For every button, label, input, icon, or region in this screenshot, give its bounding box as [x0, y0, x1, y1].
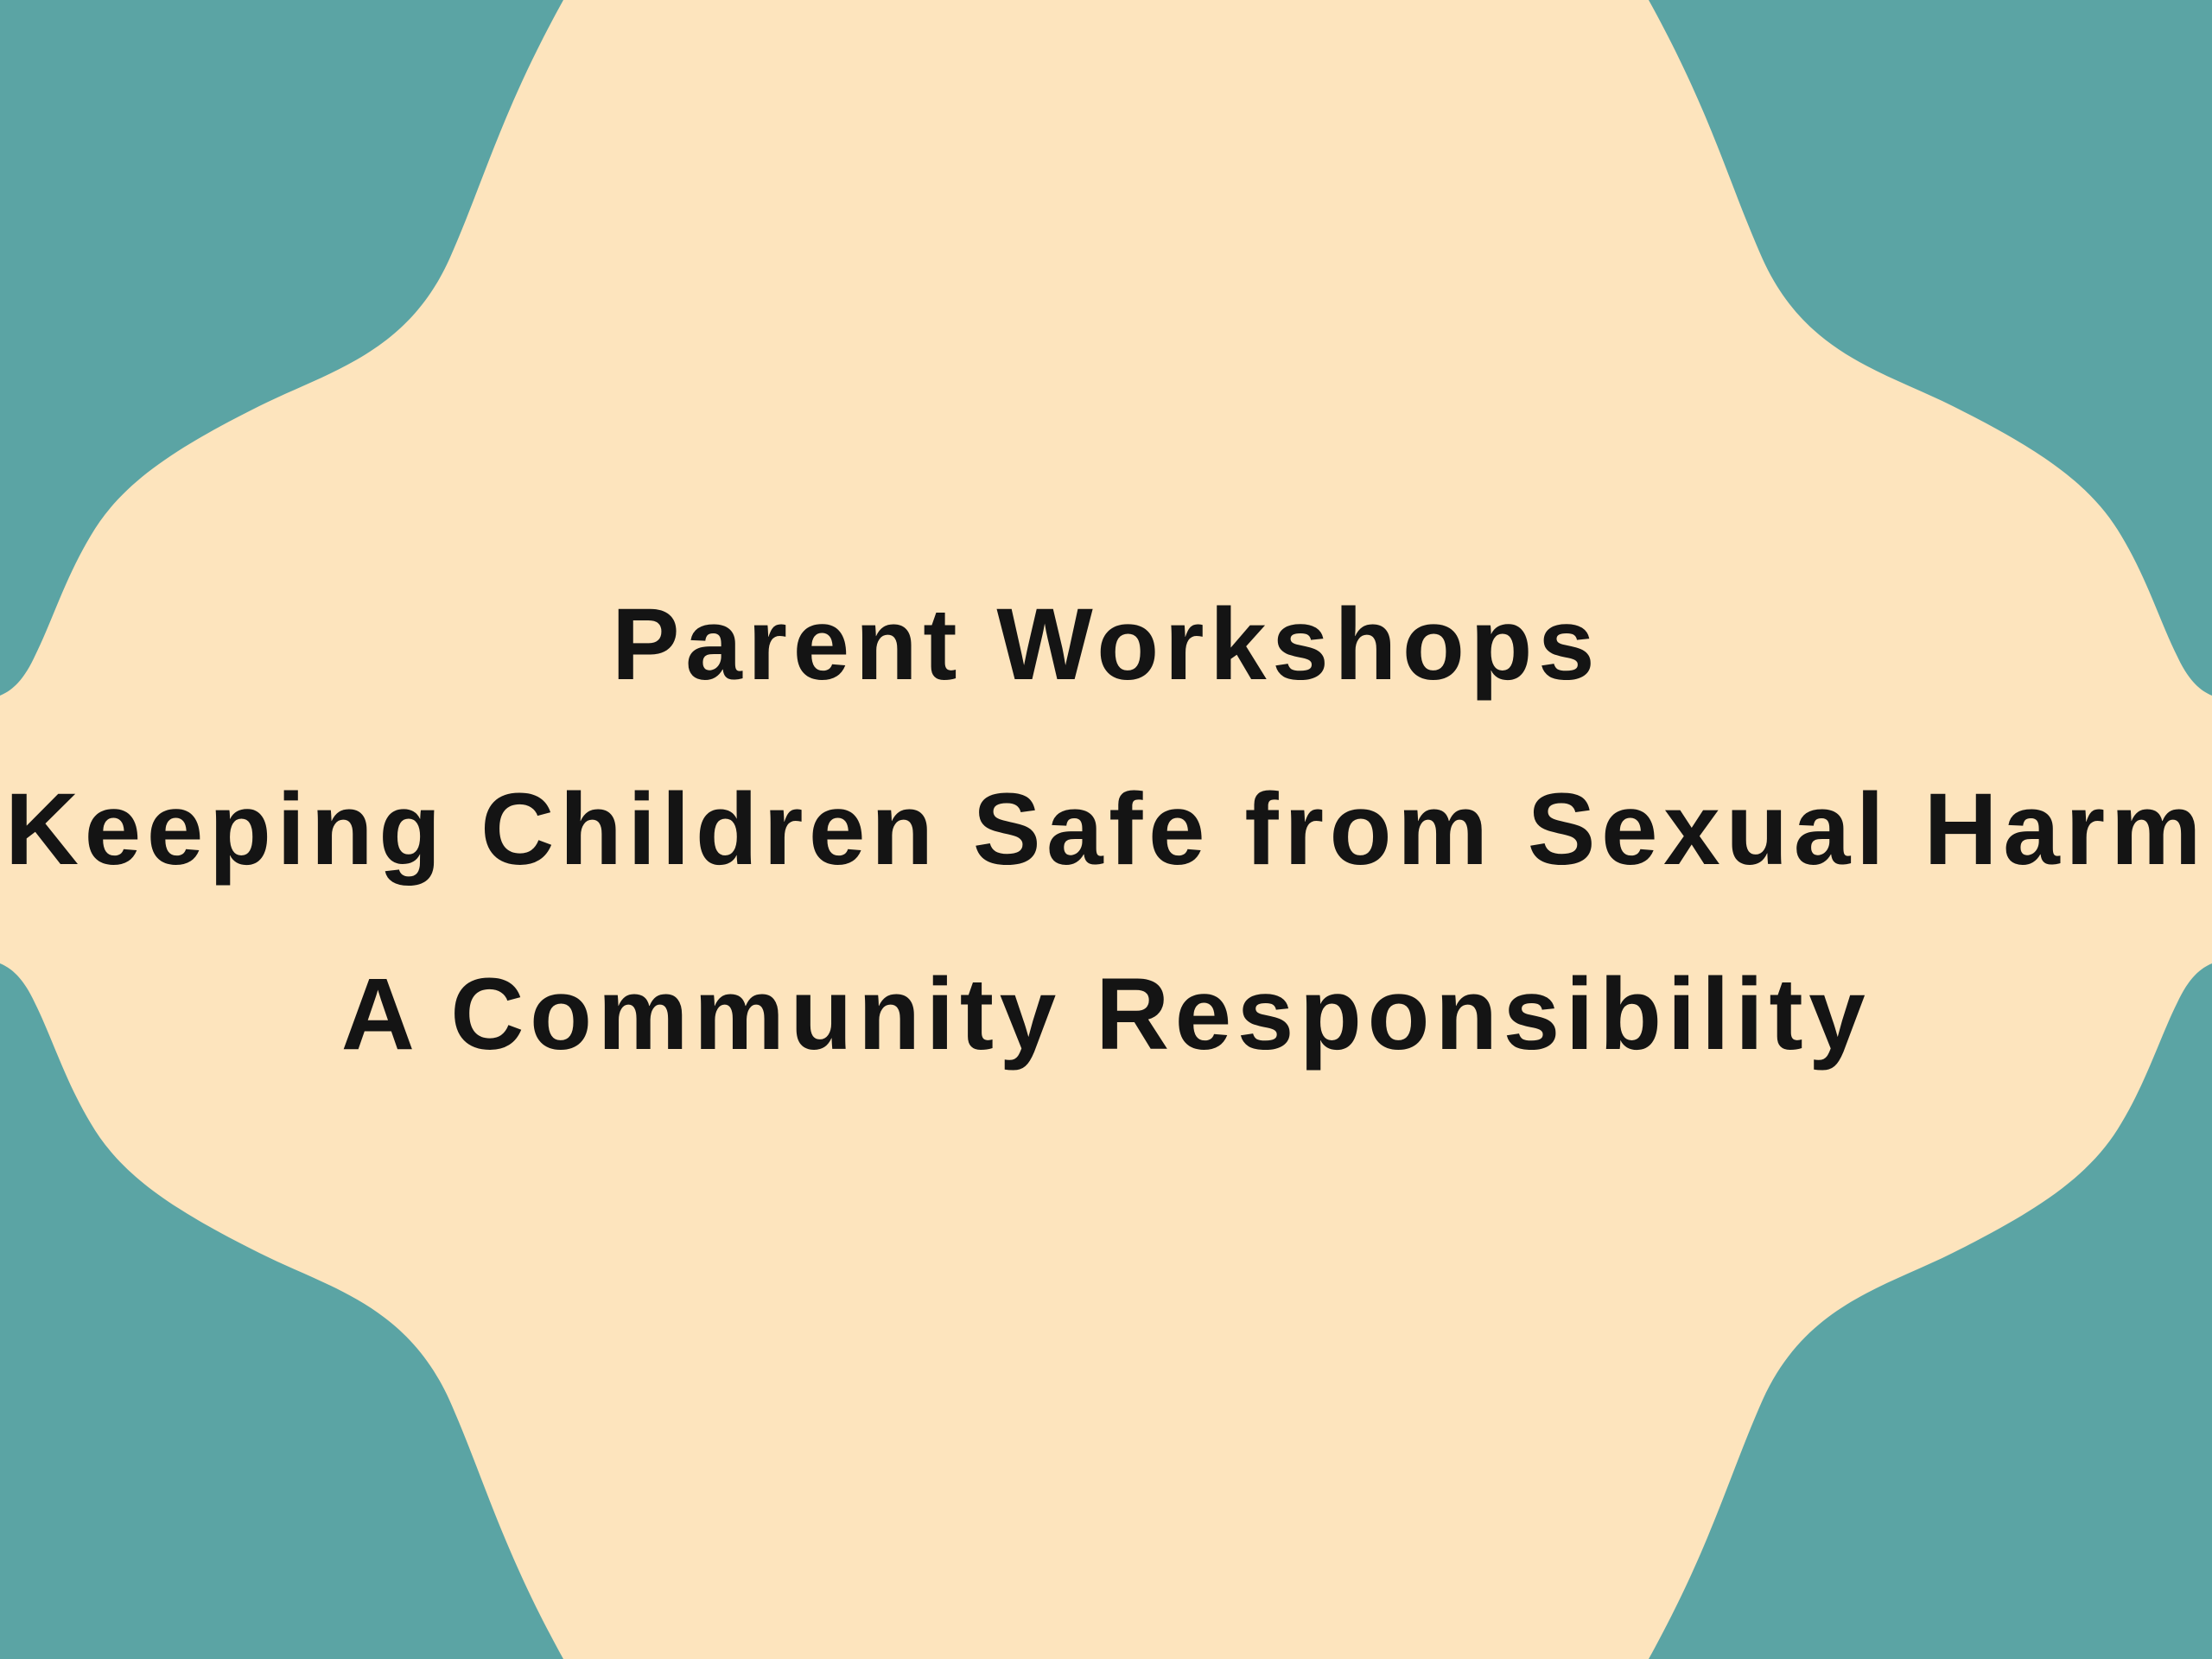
title-line-1: Parent Workshops — [612, 594, 1600, 696]
title-slide: Parent Workshops Keeping Children Safe f… — [0, 0, 2212, 1659]
slide-content: Parent Workshops Keeping Children Safe f… — [0, 0, 2212, 1659]
title-line-3: A Community Responsibility — [341, 963, 1872, 1065]
title-line-2: Keeping Children Safe from Sexual Harm — [5, 779, 2207, 880]
